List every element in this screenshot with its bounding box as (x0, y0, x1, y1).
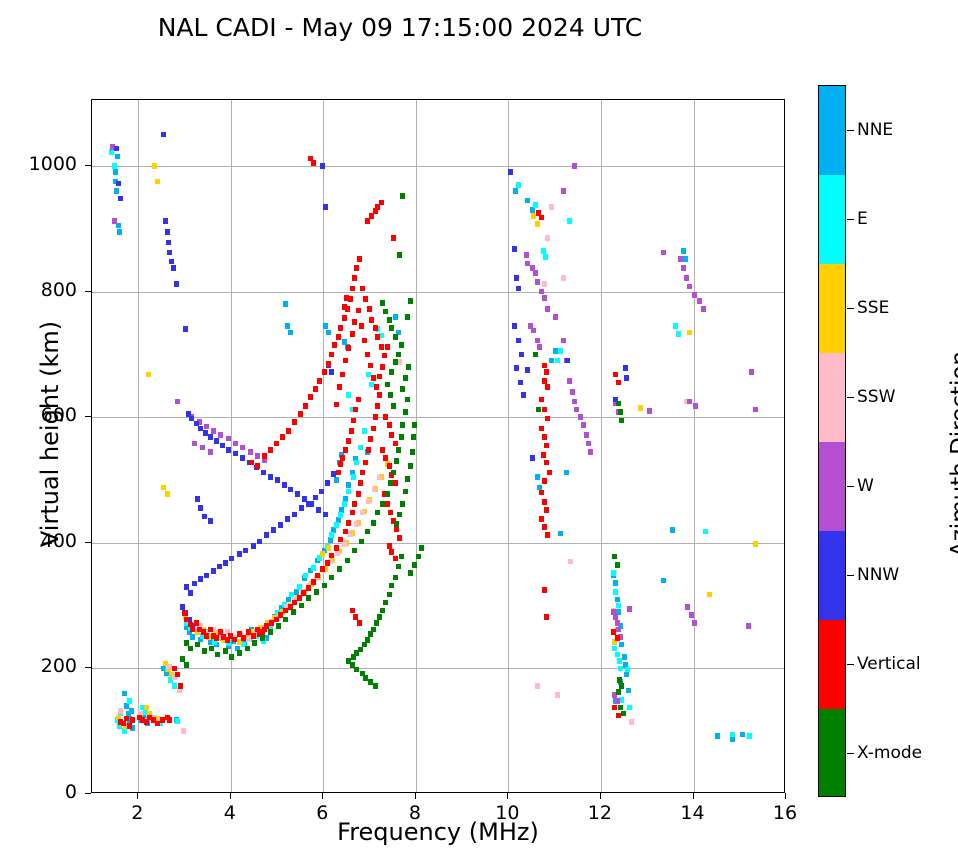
echo-mark (354, 265, 359, 271)
echo-mark (112, 218, 117, 224)
y-tick-mark (85, 542, 91, 543)
echo-mark (209, 646, 214, 652)
echo-mark (514, 275, 519, 281)
echo-mark (144, 705, 149, 711)
x-tick-mark (415, 793, 416, 799)
echo-mark (396, 564, 401, 570)
x-tick-mark (322, 793, 323, 799)
echo-mark (397, 359, 402, 365)
echo-mark (542, 499, 547, 505)
echo-mark (393, 334, 398, 340)
echo-mark (661, 250, 666, 256)
echo-mark (285, 516, 290, 522)
gridline-vertical (138, 100, 139, 792)
echo-mark (121, 721, 126, 727)
echo-mark (283, 301, 288, 307)
echo-mark (353, 407, 358, 413)
echo-mark (175, 718, 180, 724)
echo-mark (389, 583, 394, 589)
echo-mark (393, 480, 398, 486)
colorbar-tick (847, 486, 854, 487)
echo-mark (687, 399, 692, 405)
echo-mark (616, 627, 621, 633)
echo-mark (161, 132, 166, 138)
echo-mark (116, 181, 121, 187)
echo-mark (204, 424, 209, 430)
echo-mark (127, 698, 132, 704)
echo-mark (368, 436, 373, 442)
colorbar-band-vertical (819, 620, 845, 709)
echo-mark (617, 677, 622, 683)
echo-mark (251, 633, 256, 639)
echo-mark (388, 510, 393, 516)
echo-mark (508, 169, 513, 175)
echo-mark (354, 667, 359, 673)
colorbar-band-e (819, 175, 845, 264)
echo-mark (169, 259, 174, 265)
echo-mark (697, 298, 702, 304)
echo-mark (412, 562, 417, 568)
echo-mark (112, 163, 117, 169)
echo-mark (257, 539, 262, 545)
echo-mark (613, 372, 618, 378)
colorbar-label-nne: NNE (857, 120, 893, 140)
echo-mark (365, 218, 370, 224)
echo-mark (351, 474, 356, 480)
colorbar-tick (847, 397, 854, 398)
echo-mark (564, 470, 569, 476)
echo-mark (539, 397, 544, 403)
echo-mark (400, 386, 405, 392)
echo-mark (387, 592, 392, 598)
echo-mark (178, 683, 183, 689)
ionogram-figure: NAL CADI - May 09 17:15:00 2024 UTC 2468… (0, 0, 958, 857)
echo-mark (346, 489, 351, 495)
echo-mark (516, 182, 521, 188)
echo-mark (373, 683, 378, 689)
echo-mark (114, 146, 119, 152)
echo-mark (351, 418, 356, 424)
echo-mark (545, 235, 550, 241)
echo-mark (326, 330, 331, 336)
echo-mark (332, 342, 337, 348)
echo-mark (419, 545, 424, 551)
echo-mark (542, 587, 547, 593)
echo-mark (396, 352, 401, 358)
echo-mark (408, 298, 413, 304)
echo-mark (537, 344, 542, 350)
echo-mark (167, 250, 172, 256)
echo-mark (241, 635, 246, 641)
colorbar-label-vertical: Vertical (857, 654, 921, 674)
echo-mark (399, 342, 404, 348)
echo-mark (544, 460, 549, 466)
echo-mark (394, 458, 399, 464)
echo-mark (362, 338, 367, 344)
echo-mark (188, 646, 193, 652)
echo-mark (586, 441, 591, 447)
echo-mark (383, 600, 388, 606)
echo-mark (544, 507, 549, 513)
echo-mark (371, 426, 376, 432)
echo-mark (165, 229, 170, 235)
x-tick-mark (507, 793, 508, 799)
echo-mark (115, 154, 120, 160)
echo-mark (539, 490, 544, 496)
echo-mark (294, 589, 299, 595)
echo-mark (615, 597, 620, 603)
echo-mark (194, 620, 199, 626)
echo-mark (513, 188, 518, 194)
echo-mark (615, 652, 620, 658)
echo-mark (387, 317, 392, 323)
echo-mark (371, 375, 376, 381)
echo-mark (619, 683, 624, 689)
echo-mark (346, 520, 351, 526)
echo-mark (753, 407, 758, 413)
echo-mark (380, 300, 385, 306)
echo-mark (416, 554, 421, 560)
echo-mark (661, 578, 666, 584)
echo-mark (383, 414, 388, 420)
echo-mark (122, 691, 127, 697)
echo-mark (175, 399, 180, 405)
echo-mark (678, 256, 683, 262)
echo-mark (274, 441, 279, 447)
echo-mark (616, 689, 621, 695)
echo-mark (306, 585, 311, 591)
echo-mark (740, 732, 745, 738)
echo-mark (525, 198, 530, 204)
echo-mark (385, 501, 390, 507)
echo-mark (350, 510, 355, 516)
echo-mark (391, 235, 396, 241)
echo-mark (389, 369, 394, 375)
echo-mark (243, 548, 248, 554)
y-tick-mark (85, 416, 91, 417)
echo-mark (344, 295, 349, 301)
echo-mark (514, 365, 519, 371)
echo-mark (397, 535, 402, 541)
echo-mark (336, 334, 341, 340)
echo-mark (383, 455, 388, 461)
y-tick-label: 0 (7, 781, 77, 803)
echo-mark (374, 384, 379, 390)
echo-mark (618, 666, 623, 672)
echo-mark (350, 331, 355, 337)
echo-mark (268, 629, 273, 635)
echo-mark (380, 447, 385, 453)
echo-mark (371, 520, 376, 526)
echo-mark (249, 460, 254, 466)
echo-mark (533, 202, 538, 208)
x-tick-mark (693, 793, 694, 799)
echo-mark (171, 265, 176, 271)
echo-mark (400, 193, 405, 199)
y-tick-mark (85, 793, 91, 794)
echo-mark (172, 666, 177, 672)
echo-mark (218, 432, 223, 438)
echo-mark (184, 662, 189, 668)
echo-mark (687, 330, 692, 336)
echo-mark (306, 595, 311, 601)
echo-mark (387, 422, 392, 428)
echo-mark (303, 573, 308, 579)
echo-mark (524, 252, 529, 258)
echo-mark (380, 364, 385, 370)
echo-mark (208, 434, 213, 440)
echo-mark (346, 392, 351, 398)
echo-mark (621, 711, 626, 717)
echo-mark (226, 436, 231, 442)
echo-mark (394, 521, 399, 527)
echo-mark (516, 338, 521, 344)
echo-mark (393, 556, 398, 562)
colorbar-tick (847, 219, 854, 220)
echo-mark (623, 365, 628, 371)
echo-mark (204, 633, 209, 639)
echo-mark (701, 306, 706, 312)
echo-mark (328, 537, 333, 543)
echo-mark (288, 487, 293, 493)
echo-mark (282, 482, 287, 488)
echo-mark (385, 491, 390, 497)
echo-mark (627, 705, 632, 711)
echo-mark (329, 352, 334, 358)
colorbar-title: Azimuth Direction (947, 284, 958, 624)
echo-mark (567, 378, 572, 384)
echo-mark (329, 369, 334, 375)
colorbar-tick (847, 130, 854, 131)
echo-mark (335, 550, 340, 556)
echo-mark (276, 623, 281, 629)
echo-mark (161, 485, 166, 491)
echo-mark (286, 597, 291, 603)
echo-mark (329, 553, 334, 559)
echo-mark (340, 372, 345, 378)
echo-mark (320, 551, 325, 557)
echo-mark (360, 286, 365, 292)
echo-mark (208, 449, 213, 455)
gridline-vertical (694, 100, 695, 792)
echo-mark (352, 548, 357, 554)
echo-mark (182, 610, 187, 616)
echo-mark (541, 452, 546, 458)
echo-mark (375, 403, 380, 409)
colorbar-label-e: E (857, 209, 868, 229)
echo-mark (174, 281, 179, 287)
echo-mark (118, 708, 123, 714)
echo-mark (673, 323, 678, 329)
echo-mark (275, 477, 280, 483)
echo-mark (380, 501, 385, 507)
echo-mark (542, 363, 547, 369)
echo-mark (545, 532, 550, 538)
echo-mark (681, 248, 686, 254)
echo-mark (715, 733, 720, 739)
echo-mark (619, 642, 624, 648)
echo-mark (198, 576, 203, 582)
echo-mark (544, 443, 549, 449)
echo-mark (329, 575, 334, 581)
echo-mark (338, 461, 343, 467)
echo-mark (753, 541, 758, 547)
gridline-horizontal (92, 543, 784, 544)
echo-mark (116, 223, 121, 229)
echo-mark (516, 286, 521, 292)
echo-mark (350, 662, 355, 668)
echo-mark (237, 650, 242, 656)
echo-mark (354, 521, 359, 527)
echo-mark (558, 348, 563, 354)
echo-mark (129, 708, 134, 714)
echo-mark (336, 470, 341, 476)
echo-mark (215, 652, 220, 658)
echo-mark (410, 449, 415, 455)
echo-mark (405, 397, 410, 403)
echo-mark (530, 207, 535, 213)
echo-mark (365, 529, 370, 535)
echo-mark (297, 595, 302, 601)
echo-mark (313, 386, 318, 392)
echo-mark (195, 642, 200, 648)
echo-mark (535, 683, 540, 689)
echo-mark (360, 510, 365, 516)
echo-mark (638, 405, 643, 411)
echo-mark (525, 367, 530, 373)
echo-mark (175, 672, 180, 678)
echo-mark (214, 635, 219, 641)
echo-mark (612, 646, 617, 652)
echo-mark (325, 560, 330, 566)
echo-mark (397, 512, 402, 518)
echo-mark (578, 414, 583, 420)
echo-mark (542, 524, 547, 530)
echo-mark (217, 564, 222, 570)
echo-mark (118, 196, 123, 202)
echo-mark (670, 527, 675, 533)
echo-mark (615, 562, 620, 568)
page-title: NAL CADI - May 09 17:15:00 2024 UTC (0, 13, 800, 42)
echo-mark (366, 499, 371, 505)
echo-mark (616, 401, 621, 407)
colorbar-band-ssw (819, 353, 845, 442)
echo-mark (542, 281, 547, 287)
echo-mark (208, 518, 213, 524)
echo-mark (561, 188, 566, 194)
echo-mark (343, 529, 348, 535)
colorbar-tick (847, 308, 854, 309)
echo-mark (531, 328, 536, 334)
echo-mark (363, 460, 368, 466)
echo-mark (375, 510, 380, 516)
echo-mark (408, 570, 413, 576)
echo-mark (373, 414, 378, 420)
echo-mark (549, 204, 554, 210)
echo-mark (338, 512, 343, 518)
echo-mark (542, 378, 547, 384)
x-tick-mark (785, 793, 786, 799)
colorbar-band-nne (819, 86, 845, 175)
echo-mark (545, 306, 550, 312)
echo-mark (619, 418, 624, 424)
echo-mark (692, 292, 697, 298)
echo-mark (180, 656, 185, 662)
echo-mark (619, 697, 624, 703)
echo-mark (626, 688, 631, 694)
echo-mark (117, 229, 122, 235)
echo-mark (547, 470, 552, 476)
echo-mark (223, 648, 228, 654)
echo-mark (308, 394, 313, 400)
echo-mark (572, 163, 577, 169)
echo-mark (352, 275, 357, 281)
echo-mark (535, 338, 540, 344)
echo-mark (299, 505, 304, 511)
echo-mark (539, 426, 544, 432)
echo-mark (127, 723, 132, 729)
x-tick-mark (137, 793, 138, 799)
echo-mark (519, 352, 524, 358)
echo-mark (352, 501, 357, 507)
echo-mark (368, 631, 373, 637)
echo-mark (545, 384, 550, 390)
echo-mark (393, 314, 398, 320)
echo-mark (555, 692, 560, 698)
gridline-vertical (601, 100, 602, 792)
echo-mark (746, 623, 751, 629)
gridline-horizontal (92, 166, 784, 167)
colorbar-label-sse: SSE (857, 298, 889, 318)
echo-mark (393, 359, 398, 365)
y-tick-mark (85, 291, 91, 292)
echo-mark (360, 470, 365, 476)
echo-mark (572, 399, 577, 405)
colorbar-tick (847, 753, 854, 754)
echo-mark (166, 240, 171, 246)
echo-mark (357, 256, 362, 262)
echo-mark (113, 169, 118, 175)
echo-mark (385, 344, 390, 350)
echo-mark (329, 532, 334, 538)
echo-mark (408, 463, 413, 469)
echo-mark (354, 460, 359, 466)
echo-mark (366, 447, 371, 453)
echo-mark (226, 447, 231, 453)
echo-mark (676, 331, 681, 337)
echo-mark (211, 428, 216, 434)
echo-mark (202, 648, 207, 654)
echo-mark (553, 314, 558, 320)
echo-mark (518, 380, 523, 386)
echo-mark (684, 275, 689, 281)
echo-mark (192, 581, 197, 587)
echo-mark (320, 566, 325, 572)
echo-mark (535, 279, 540, 285)
echo-mark (315, 573, 320, 579)
echo-mark (377, 475, 382, 481)
echo-mark (233, 451, 238, 457)
echo-mark (539, 289, 544, 295)
echo-mark (368, 363, 373, 369)
echo-mark (288, 330, 293, 336)
echo-mark (314, 589, 319, 595)
echo-mark (262, 453, 267, 459)
echo-mark (181, 728, 186, 734)
echo-mark (311, 160, 316, 166)
echo-mark (202, 514, 207, 520)
echo-mark (613, 580, 618, 586)
